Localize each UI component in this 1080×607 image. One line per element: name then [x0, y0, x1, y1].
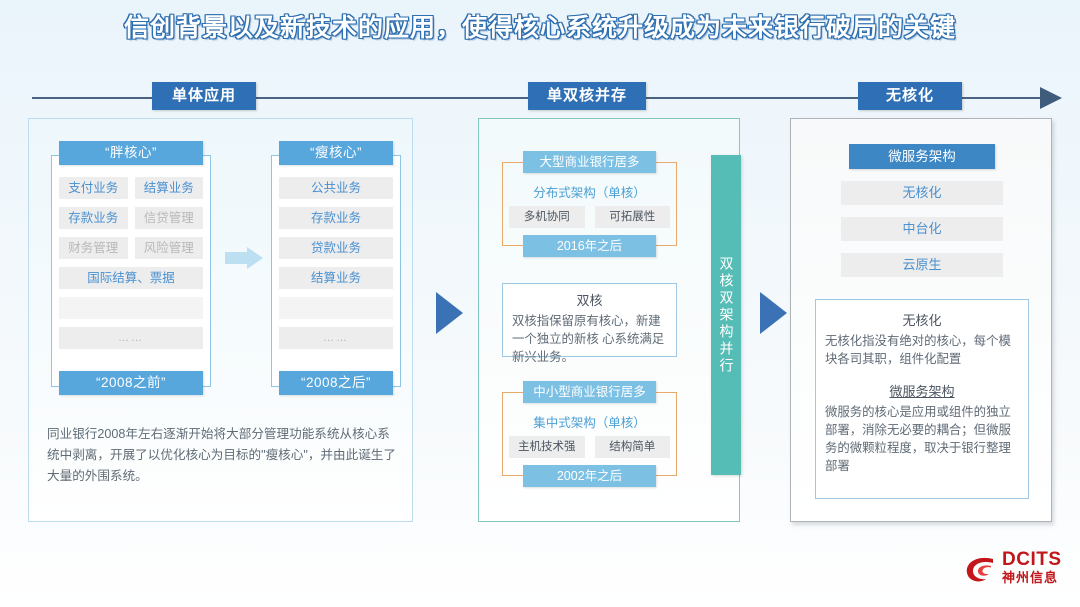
- group-chips: 多机协同 可拓展性: [509, 206, 670, 228]
- description-body: 双核指保留原有核心，新建一个独立的新核 心系统满足新兴业务。: [512, 312, 667, 366]
- chip-row: 支付业务 结算业务: [59, 177, 203, 207]
- timeline-stage-3[interactable]: 无核化: [858, 82, 962, 110]
- chip-item[interactable]: 信贷管理: [135, 207, 204, 229]
- slide-root: 信创背景以及新技术的应用，使得核心系统升级成为未来银行破局的关键 单体应用 单双…: [0, 0, 1080, 607]
- coreless-description: 无核化 无核化指没有绝对的核心，每个模块各司其职，组件化配置 微服务架构 微服务…: [815, 299, 1029, 499]
- chip-item[interactable]: 云原生: [841, 253, 1003, 277]
- panel-coreless: 微服务架构 无核化 中台化 云原生 无核化 无核化指没有绝对的核心，每个模块各司…: [790, 118, 1052, 522]
- panel1-note: 同业银行2008年左右逐渐开始将大部分管理功能系统从核心系统中剥离，开展了以优化…: [43, 422, 400, 508]
- logo-text: DCITS 神州信息: [1002, 550, 1062, 586]
- core-chip-grid: 支付业务 结算业务 存款业务 信贷管理 财务管理 风险管理 国际结算、票据 ……: [59, 177, 203, 357]
- dual-architecture-bar: 双核双架构并行: [711, 155, 741, 475]
- chip-item[interactable]: 结构简单: [595, 436, 671, 458]
- chip-row: 财务管理 风险管理: [59, 237, 203, 267]
- core-caption-bottom: “2008之后”: [279, 371, 393, 395]
- core-caption-top: “胖核心”: [59, 141, 203, 165]
- group-caption-bottom: 2002年之后: [523, 465, 656, 487]
- chip-item[interactable]: 支付业务: [59, 177, 128, 199]
- chip-item[interactable]: 结算业务: [135, 177, 204, 199]
- company-logo: DCITS 神州信息: [962, 548, 1070, 596]
- chip-item[interactable]: 风险管理: [135, 237, 204, 259]
- group-caption-bottom: 2016年之后: [523, 235, 656, 257]
- panel-arrow-2-icon: [760, 292, 787, 334]
- group-subtitle: 集中式架构（单核）: [502, 412, 677, 431]
- chip-item[interactable]: 可拓展性: [595, 206, 671, 228]
- transition-arrow-icon: [225, 247, 263, 269]
- chip-item-ellipsis: ……: [59, 327, 203, 349]
- chip-item[interactable]: 无核化: [841, 181, 1003, 205]
- panel-dual-core: 大型商业银行居多 分布式架构（单核） 多机协同 可拓展性 2016年之后 双核 …: [478, 118, 740, 522]
- chip-item[interactable]: 结算业务: [279, 267, 393, 289]
- panel3-header: 微服务架构: [849, 144, 995, 169]
- panel-monolithic: “胖核心” 支付业务 结算业务 存款业务 信贷管理 财务管理 风险管理 国际结算…: [28, 118, 413, 522]
- group-frame: [502, 392, 677, 476]
- chip-item[interactable]: 存款业务: [59, 207, 128, 229]
- dcits-swirl-icon: [962, 550, 1002, 590]
- description-body-1: 无核化指没有绝对的核心，每个模块各司其职，组件化配置: [825, 332, 1019, 368]
- group-frame: [502, 162, 677, 246]
- timeline-stage-2[interactable]: 单双核并存: [528, 82, 646, 110]
- logo-cn: 神州信息: [1002, 570, 1062, 586]
- chip-item-blank: [279, 297, 393, 319]
- page-title: 信创背景以及新技术的应用，使得核心系统升级成为未来银行破局的关键: [0, 8, 1080, 44]
- chip-item[interactable]: 多机协同: [509, 206, 585, 228]
- core-caption-bottom: “2008之前”: [59, 371, 203, 395]
- logo-en: DCITS: [1002, 550, 1062, 570]
- core-chip-grid: 公共业务 存款业务 贷款业务 结算业务 ……: [279, 177, 393, 357]
- dual-core-description: 双核 双核指保留原有核心，新建一个独立的新核 心系统满足新兴业务。: [502, 283, 677, 357]
- group-caption-top: 大型商业银行居多: [523, 151, 656, 173]
- chip-item[interactable]: 公共业务: [279, 177, 393, 199]
- description-title-2: 微服务架构: [825, 381, 1019, 400]
- timeline-arrow-icon: [1040, 87, 1062, 109]
- chip-item[interactable]: 财务管理: [59, 237, 128, 259]
- chip-item[interactable]: 主机技术强: [509, 436, 585, 458]
- chip-item[interactable]: 贷款业务: [279, 237, 393, 259]
- timeline: 单体应用 单双核并存 无核化: [0, 82, 1080, 114]
- chip-item[interactable]: 存款业务: [279, 207, 393, 229]
- chip-row: 存款业务 信贷管理: [59, 207, 203, 237]
- description-title-1: 无核化: [825, 310, 1019, 329]
- description-title: 双核: [512, 290, 667, 309]
- timeline-stage-1[interactable]: 单体应用: [152, 82, 256, 110]
- panel-arrow-1-icon: [436, 292, 463, 334]
- core-caption-top: “瘦核心”: [279, 141, 393, 165]
- description-body-2: 微服务的核心是应用或组件的独立部署，消除无必要的耦合；但微服务的微颗粒程度，取决…: [825, 403, 1019, 475]
- chip-item-blank: [59, 297, 203, 319]
- group-caption-top: 中小型商业银行居多: [523, 381, 656, 403]
- chip-item[interactable]: 国际结算、票据: [59, 267, 203, 289]
- group-subtitle: 分布式架构（单核）: [502, 182, 677, 201]
- group-chips: 主机技术强 结构简单: [509, 436, 670, 458]
- chip-item[interactable]: 中台化: [841, 217, 1003, 241]
- chip-item-ellipsis: ……: [279, 327, 393, 349]
